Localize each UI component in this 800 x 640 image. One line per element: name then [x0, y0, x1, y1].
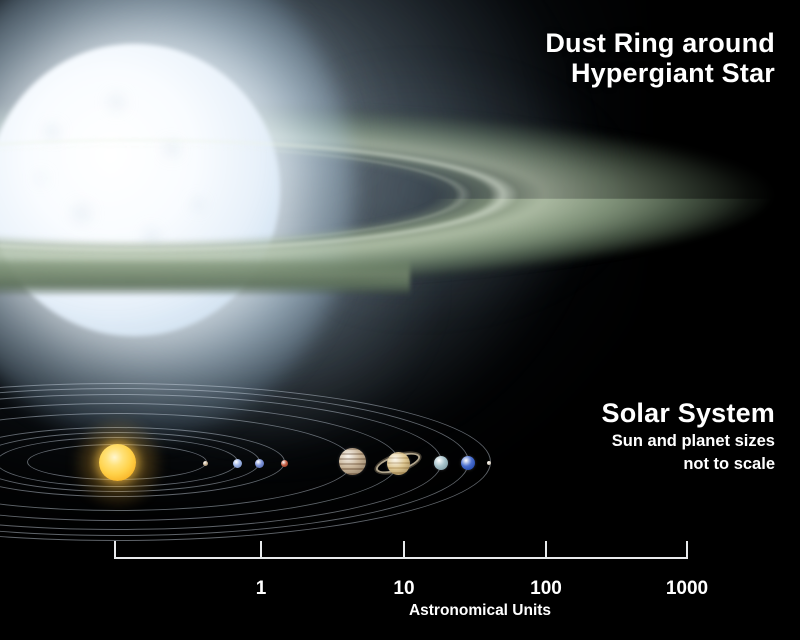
scale-tick-10 — [403, 541, 405, 559]
scale-bar: 1101001000Astronomical Units — [0, 0, 800, 640]
scale-tick-label-1: 1 — [256, 578, 267, 600]
scale-tick-100 — [545, 541, 547, 559]
scale-tick-label-10: 10 — [393, 578, 414, 600]
illustration-canvas: Dust Ring around Hypergiant Star Solar S… — [0, 0, 800, 640]
scale-bar-caption: Astronomical Units — [409, 602, 551, 620]
scale-tick-1 — [260, 541, 262, 559]
scale-bar-end-cap — [686, 541, 688, 559]
scale-bar-axis-line — [114, 557, 686, 559]
scale-bar-start-cap — [114, 541, 116, 559]
scale-tick-label-100: 100 — [530, 578, 562, 600]
scale-tick-label-1000: 1000 — [666, 578, 708, 600]
